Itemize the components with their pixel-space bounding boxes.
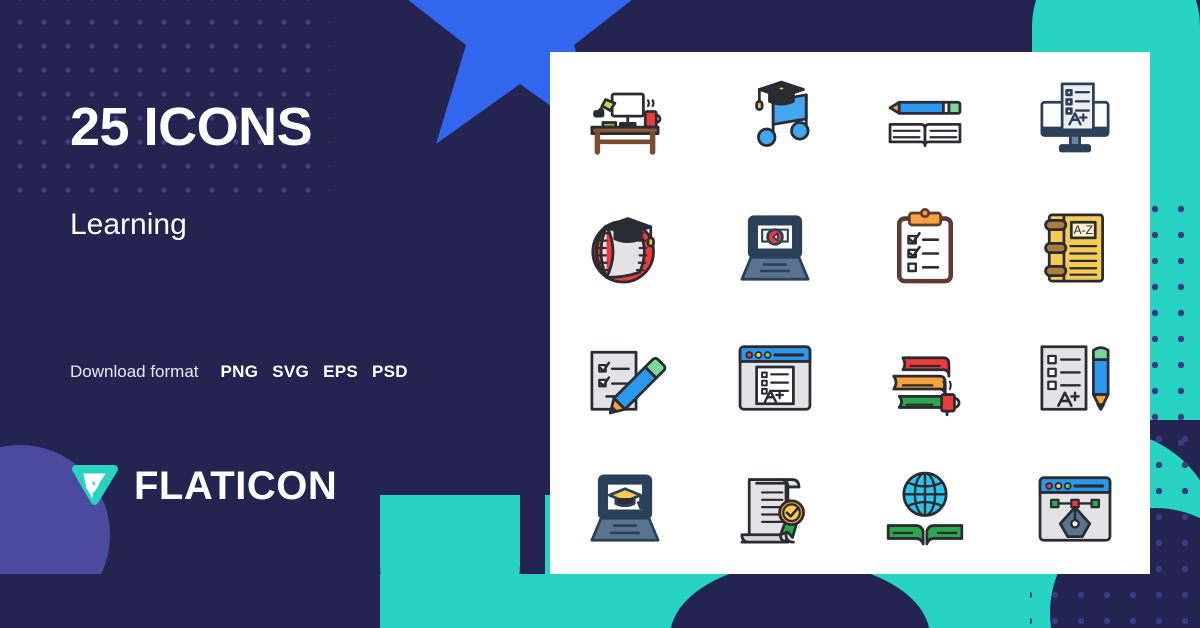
flaticon-logo-icon xyxy=(70,460,120,513)
page-title: 25 ICONS xyxy=(70,100,312,154)
music-graduation-icon xyxy=(700,52,850,183)
exam-paper-pencil-icon xyxy=(1000,313,1150,444)
icon-preview-grid: A-Z xyxy=(550,52,1150,574)
dictionary-az-icon: A-Z xyxy=(1000,183,1150,314)
format-png: PNG xyxy=(221,362,259,382)
format-svg: SVG xyxy=(272,362,309,382)
pack-name: Learning xyxy=(70,210,187,240)
laptop-video-book-icon xyxy=(700,183,850,314)
study-desk-icon xyxy=(550,52,700,183)
dictionary-az-label: A-Z xyxy=(1074,223,1093,237)
checklist-pencil-icon xyxy=(550,313,700,444)
info-column: 25 ICONS Learning Download format PNG SV… xyxy=(70,0,540,628)
brand-logo: FLATICON xyxy=(70,460,337,513)
download-formats: Download format PNG SVG EPS PSD xyxy=(70,362,408,382)
books-coffee-icon xyxy=(850,313,1000,444)
certificate-icon xyxy=(700,444,850,575)
download-format-label: Download format xyxy=(70,362,199,382)
format-psd: PSD xyxy=(372,362,408,382)
format-list: PNG SVG EPS PSD xyxy=(221,362,408,382)
promo-banner: 25 ICONS Learning Download format PNG SV… xyxy=(0,0,1200,628)
format-eps: EPS xyxy=(323,362,358,382)
monitor-exam-icon xyxy=(1000,52,1150,183)
baseball-graduation-icon xyxy=(550,183,700,314)
laptop-graduation-icon xyxy=(550,444,700,575)
browser-pen-tool-icon xyxy=(1000,444,1150,575)
globe-book-icon xyxy=(850,444,1000,575)
clipboard-checklist-icon xyxy=(850,183,1000,314)
pencil-book-icon xyxy=(850,52,1000,183)
brand-name: FLATICON xyxy=(134,464,337,509)
browser-exam-icon xyxy=(700,313,850,444)
